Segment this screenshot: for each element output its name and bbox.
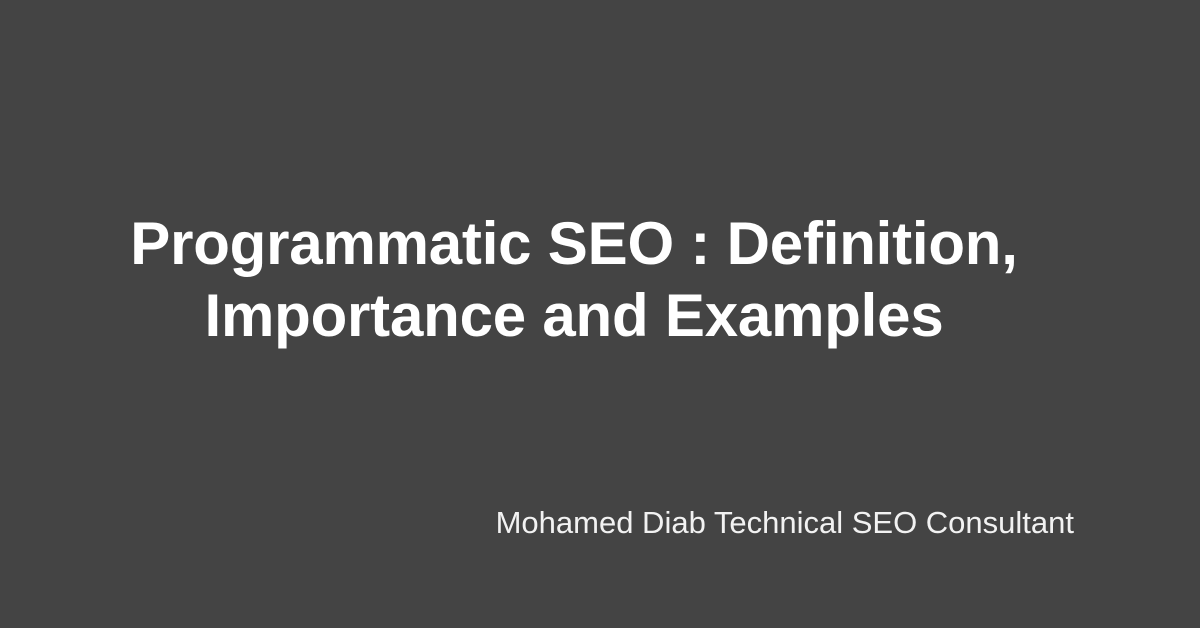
card-content-area: Programmatic SEO : Definition, Importanc… <box>52 0 1096 628</box>
author-byline: Mohamed Diab Technical SEO Consultant <box>52 503 1096 543</box>
page-title: Programmatic SEO : Definition, Importanc… <box>52 208 1096 352</box>
social-share-card: Programmatic SEO : Definition, Importanc… <box>0 0 1200 628</box>
